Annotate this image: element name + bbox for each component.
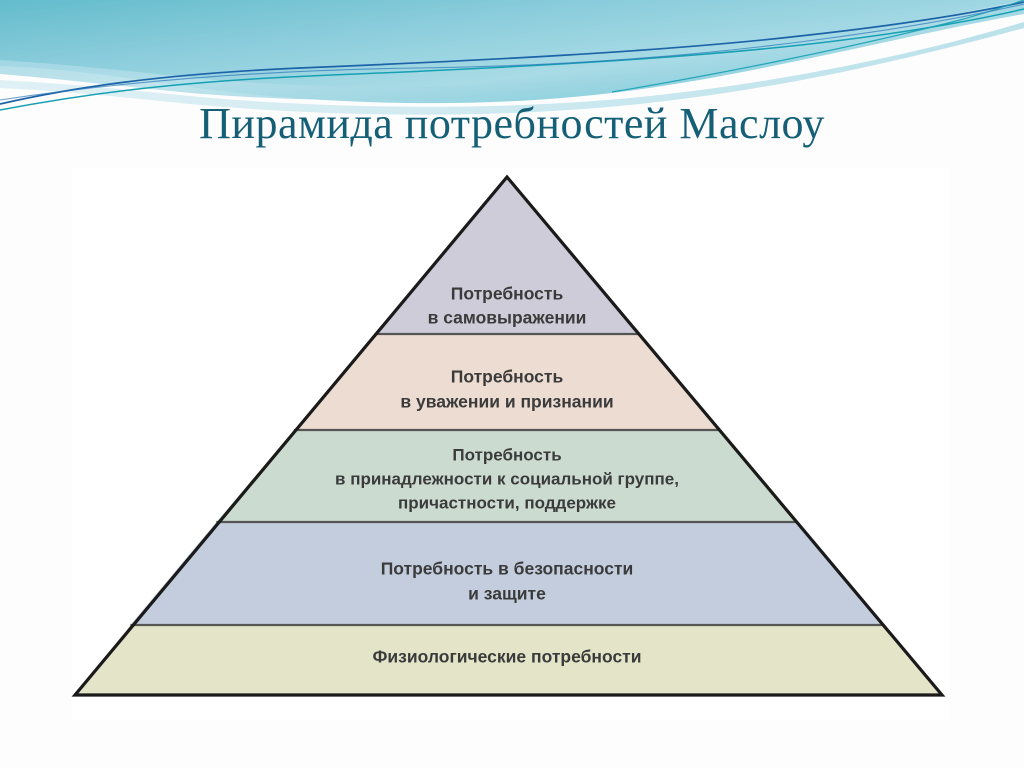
page-title-text: Пирамида потребностей Маслоу (199, 98, 825, 149)
pyramid-svg: Потребность в самовыражении Потребность … (60, 168, 960, 708)
pyramid-level-4-line-2: в уважении и признании (400, 392, 613, 412)
pyramid-level-3-line-3: причастности, поддержке (398, 493, 616, 512)
pyramid-level-4-line-1: Потребность (451, 367, 564, 387)
pyramid-level-3-line-2: в принадлежности к социальной группе, (335, 469, 679, 488)
pyramid-level-5-line-2: в самовыражении (428, 308, 587, 328)
pyramid-level-1-line-1: Физиологические потребности (372, 647, 641, 667)
maslow-pyramid-diagram: Потребность в самовыражении Потребность … (60, 168, 960, 708)
pyramid-level-2-line-2: и защите (468, 584, 546, 604)
page-title: Пирамида потребностей Маслоу (0, 98, 1024, 149)
slide: Пирамида потребностей Маслоу П (0, 0, 1024, 768)
pyramid-level-2-line-1: Потребность в безопасности (381, 559, 634, 579)
pyramid-level-5-line-1: Потребность (451, 284, 564, 304)
pyramid-level-3-line-1: Потребность (452, 445, 561, 464)
